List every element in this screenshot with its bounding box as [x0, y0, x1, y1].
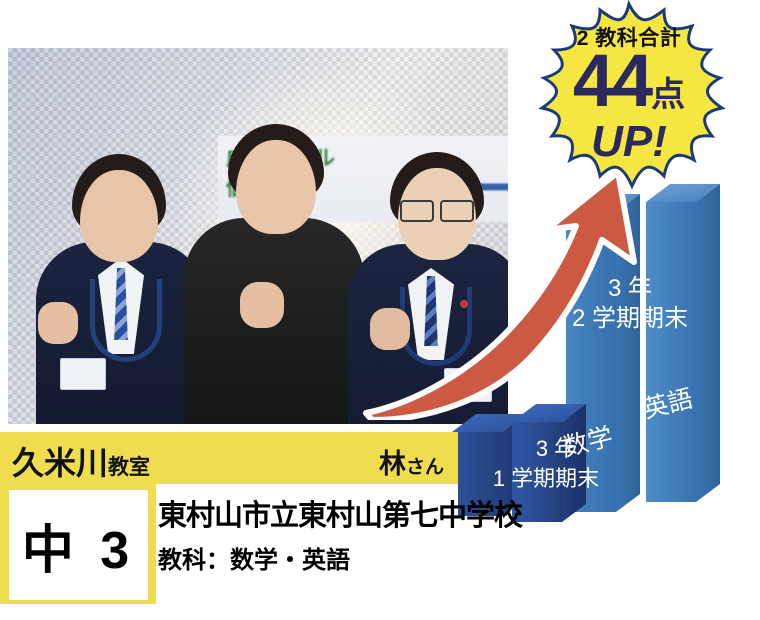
student-left — [36, 154, 206, 424]
student-center-head — [236, 140, 316, 234]
badge-score-number: 44 — [573, 39, 651, 122]
grade-box: 中 3 — [9, 490, 148, 600]
badge-score-unit: 点 — [651, 76, 685, 114]
student-name-suffix: さん — [406, 457, 444, 478]
info-panel-header-band: 久米川教室 林さん — [0, 432, 458, 484]
bar-before-english — [512, 404, 586, 522]
badge-text-group: 2 教科合計 44点 UP! — [498, 0, 760, 192]
student-name-label: 林さん — [379, 442, 444, 481]
badge-up-text: UP! — [498, 120, 760, 164]
classroom-label: 久米川教室 — [12, 438, 150, 484]
chart-label-before-line2: 1 学期期末 — [493, 466, 599, 491]
student-center-fist — [240, 282, 284, 328]
school-name: 東村山市立東村山第七中学校 — [158, 492, 522, 534]
student-name: 林 — [379, 449, 406, 479]
student-left-fist — [38, 302, 78, 344]
score-up-badge: 2 教科合計 44点 UP! — [498, 0, 760, 192]
student-left-lanyard — [90, 279, 162, 362]
student-info-panel: 久米川教室 林さん 東村山市立東村山第七中学校 教科：数学・英語 中 3 — [0, 432, 458, 604]
bar-after-english — [646, 184, 720, 502]
poster-stage: 成教育グル 個別指導 リー — [0, 0, 760, 620]
classroom-name: 久米川 — [12, 445, 108, 481]
student-left-id-badge — [60, 358, 106, 390]
growth-arrow — [350, 170, 640, 420]
grade-label: 中 3 — [22, 508, 135, 583]
student-left-head — [80, 170, 158, 262]
subject-list: 教科：数学・英語 — [158, 540, 350, 575]
student-center — [184, 124, 364, 424]
school-info-box: 東村山市立東村山第七中学校 教科：数学・英語 — [156, 484, 458, 604]
arrow-shape — [366, 172, 634, 420]
classroom-suffix: 教室 — [108, 456, 150, 479]
badge-score: 44点 — [498, 44, 760, 118]
